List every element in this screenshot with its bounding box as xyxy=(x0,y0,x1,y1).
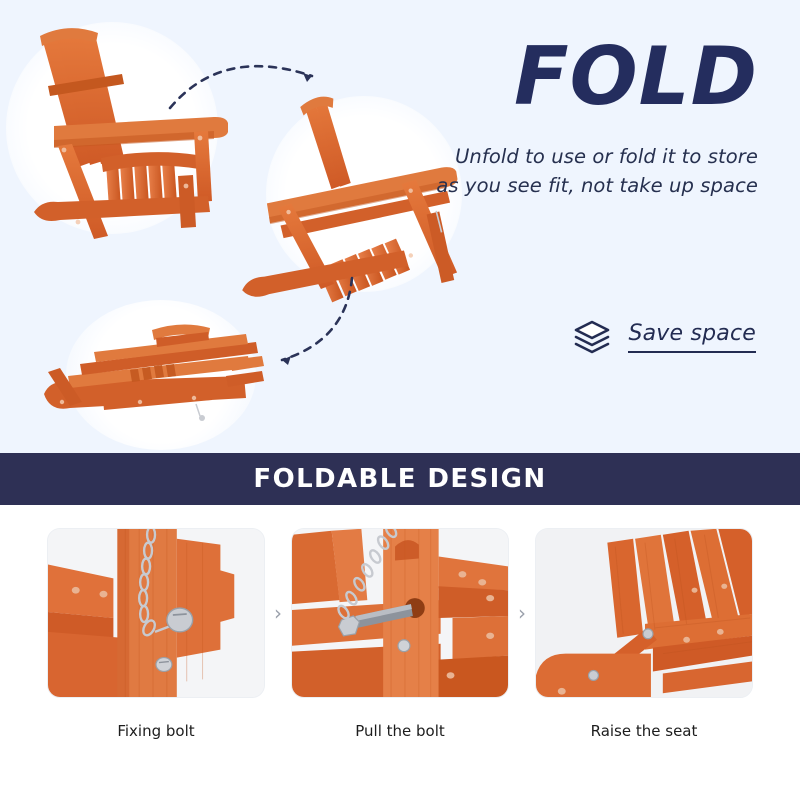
step-separator-2: › xyxy=(509,528,535,698)
step-pull-the-bolt: Pull the bolt xyxy=(291,528,509,740)
save-space-label: Save space xyxy=(628,321,756,353)
section-banner: FOLDABLE DESIGN xyxy=(0,453,800,505)
stacked-layers-icon xyxy=(572,318,612,356)
banner-title: FOLDABLE DESIGN xyxy=(253,464,546,494)
photo-fixing-bolt xyxy=(47,528,265,698)
curved-dashed-arrow-1 xyxy=(170,66,312,108)
save-space-feature: Save space xyxy=(572,318,756,356)
chair-unfolded xyxy=(34,28,228,239)
page-title: FOLD xyxy=(428,40,758,114)
curved-dashed-arrow-2 xyxy=(282,278,352,365)
step-caption: Raise the seat xyxy=(591,722,698,740)
headline-block: FOLD Unfold to use or fold it to store a… xyxy=(428,40,758,201)
tagline-text: Unfold to use or fold it to store as you… xyxy=(428,142,758,201)
step-fixing-bolt: Fixing bolt xyxy=(47,528,265,740)
step-raise-the-seat: Raise the seat xyxy=(535,528,753,740)
steps-section: Fixing bolt › xyxy=(0,505,800,800)
hero-section: FOLD Unfold to use or fold it to store a… xyxy=(0,0,800,453)
steps-row: Fixing bolt › xyxy=(0,505,800,740)
photo-pull-the-bolt xyxy=(291,528,509,698)
step-caption: Pull the bolt xyxy=(355,722,445,740)
step-separator-1: › xyxy=(265,528,291,698)
chair-folded-flat xyxy=(44,324,264,421)
step-caption: Fixing bolt xyxy=(117,722,194,740)
infographic-page: FOLD Unfold to use or fold it to store a… xyxy=(0,0,800,800)
photo-raise-the-seat xyxy=(535,528,753,698)
